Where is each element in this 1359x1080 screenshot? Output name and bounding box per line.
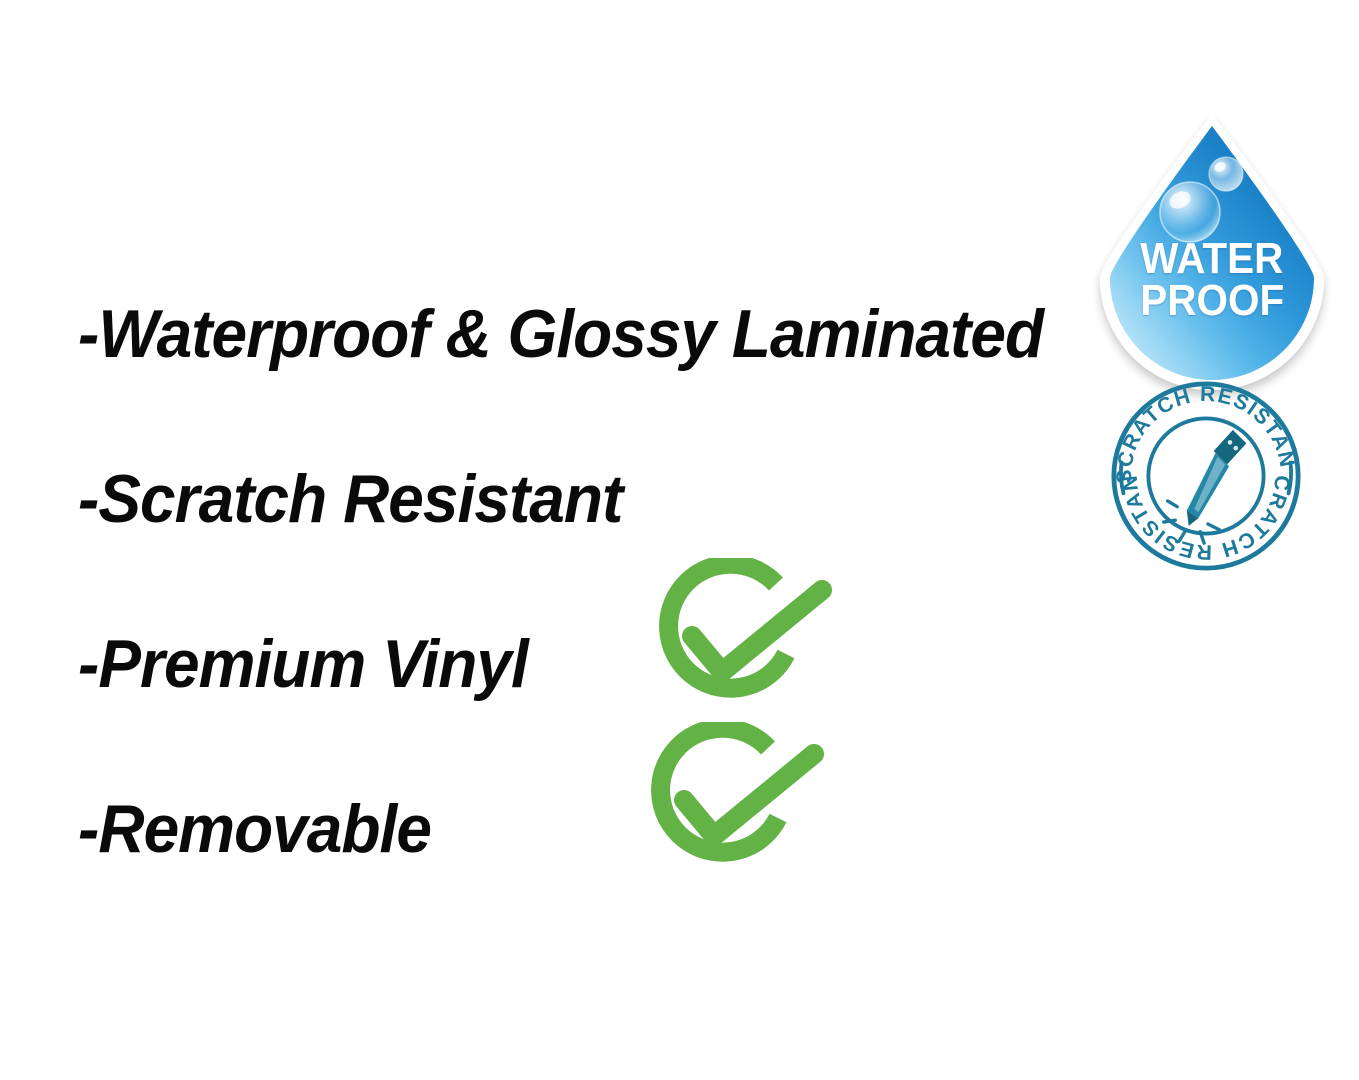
knife-icon	[1187, 430, 1247, 526]
check-circle-1	[636, 558, 844, 710]
waterproof-badge: WATER PROOF	[1096, 112, 1328, 360]
feature-list: -Waterproof & Glossy Laminated -Scratch …	[78, 252, 1098, 912]
check-stroke	[692, 590, 822, 672]
check-circle-icon	[636, 558, 844, 710]
feature-item-scratch-resistant: -Scratch Resistant	[78, 417, 1037, 582]
water-drop-icon	[1096, 112, 1328, 360]
knife-stamp-icon: SCRATCH RESISTANT SCRATCH RESISTANT	[1106, 380, 1306, 572]
check-circle-icon	[628, 722, 836, 874]
feature-graphic-canvas: -Waterproof & Glossy Laminated -Scratch …	[0, 0, 1359, 1080]
scratch-resistant-badge: SCRATCH RESISTANT SCRATCH RESISTANT	[1106, 380, 1306, 572]
check-stroke	[684, 754, 814, 836]
feature-item-premium-vinyl: -Premium Vinyl	[78, 582, 1037, 747]
check-circle-2	[628, 722, 836, 874]
feature-item-waterproof-glossy-laminated: -Waterproof & Glossy Laminated	[78, 252, 1037, 417]
feature-item-removable: -Removable	[78, 747, 1037, 912]
stamp-text-top: SCRATCH RESISTANT	[1106, 380, 1299, 484]
